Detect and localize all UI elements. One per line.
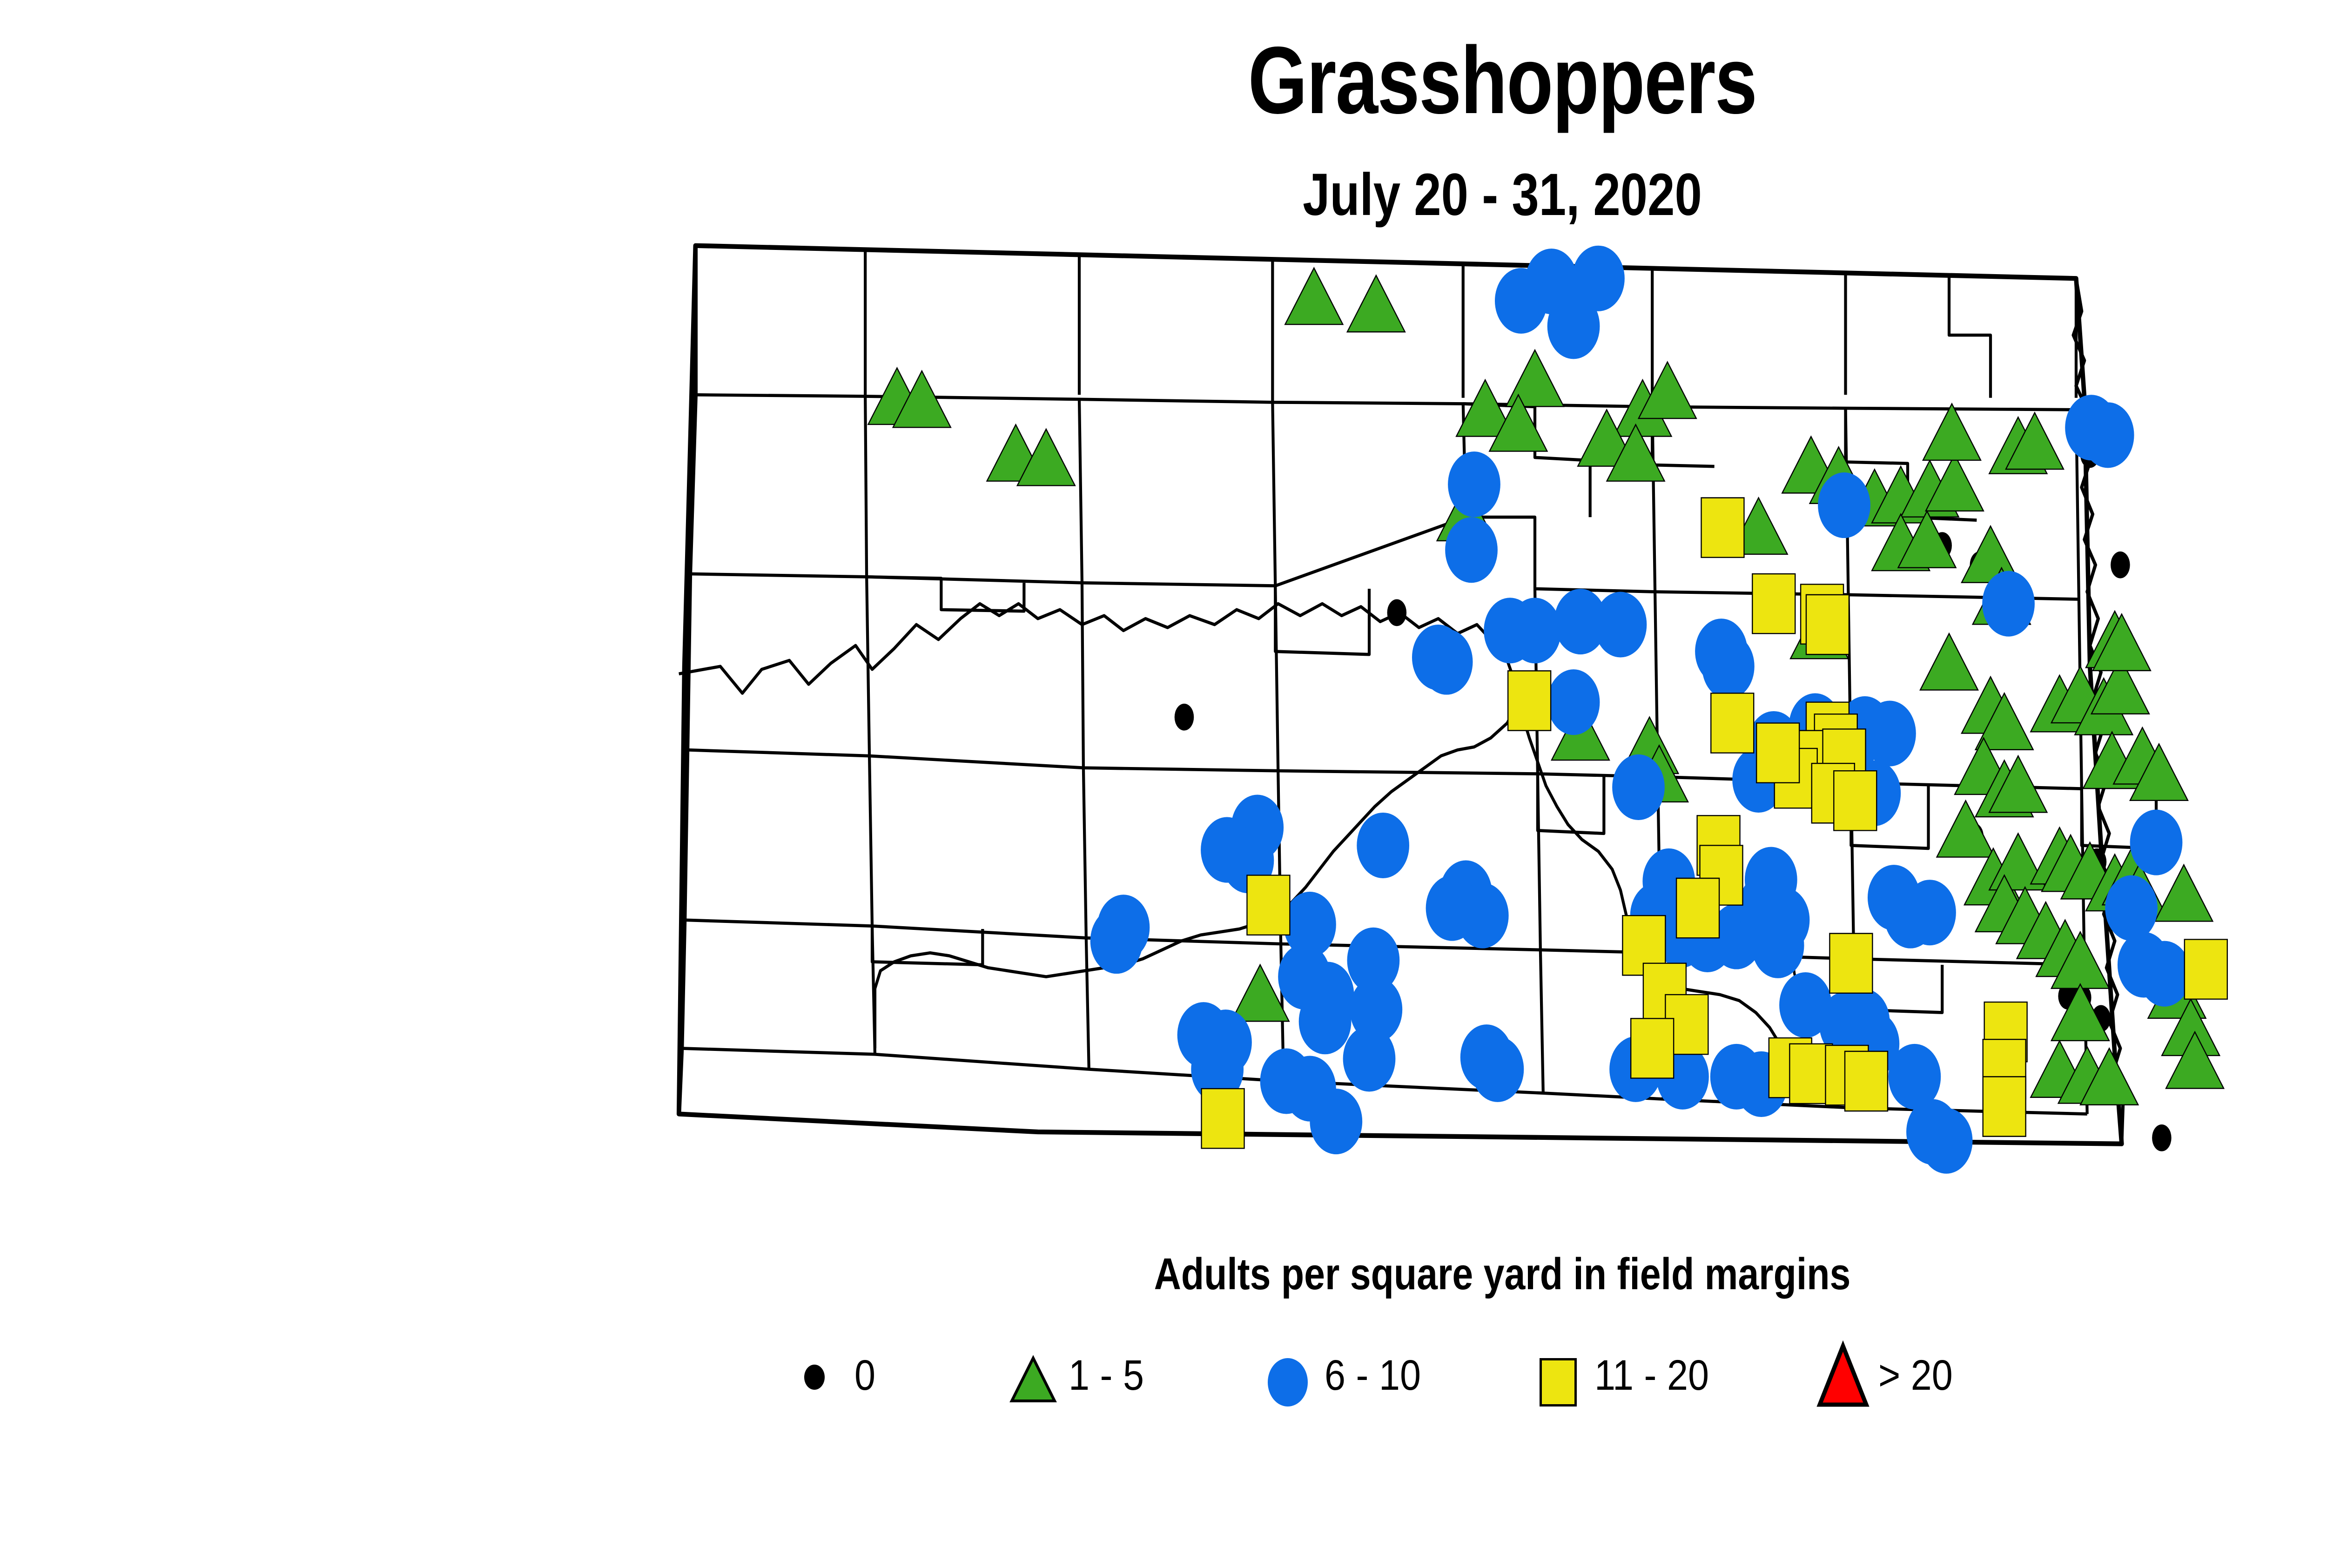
map-symbol [1508,671,1551,730]
map-symbol [1090,908,1143,974]
map-symbol [1387,599,1407,626]
map-symbol [1752,913,1804,978]
legend-item-6-10[interactable]: 6 - 10 [1257,1336,1434,1415]
map-symbol [1547,293,1600,359]
map-symbol [1448,451,1500,517]
north-dakota-map[interactable] [624,219,2280,1233]
map-symbol [1631,1018,1674,1078]
map-symbol [1343,1026,1396,1091]
map-symbol [1547,669,1600,735]
map-symbol [2105,875,2158,941]
map-symbol [1202,1089,1244,1148]
map-symbol [1752,574,1795,633]
legend-item-11-20[interactable]: 11 - 20 [1527,1336,1725,1415]
map-symbol [1426,875,1479,941]
page-subtitle: July 20 - 31, 2020 [270,165,2327,225]
map-symbol [1310,1089,1362,1154]
map-symbol [2130,810,2183,875]
map-symbol [1357,813,1409,878]
map-symbol [1923,404,1981,460]
map-symbol [1472,1036,1524,1102]
map-symbol [1701,498,1744,558]
map-symbol [2138,941,2191,1007]
legend-label-1-5: 1 - 5 [1069,1354,1144,1397]
map-symbol [1834,771,1876,830]
page-title: Grasshoppers [301,33,2327,128]
map-symbol [1612,754,1665,820]
map-symbol [1594,592,1647,657]
map-symbol [1420,629,1473,695]
map-symbol [1299,989,1352,1054]
map-symbol [2111,552,2130,579]
map-symbol [1175,704,1194,731]
map-symbol [1702,633,1755,699]
map-symbol [1285,268,1343,324]
green-triangle-icon [1001,1336,1066,1415]
legend-label-11-20: 11 - 20 [1594,1354,1709,1397]
yellow-square-icon [1527,1336,1592,1415]
map-symbol [2082,402,2134,468]
legend-label-6-10: 6 - 10 [1325,1354,1421,1397]
blue-circle-icon [1257,1336,1322,1415]
page-root: Grasshoppers July 20 - 31, 2020 [0,0,2327,1568]
map-symbol [1903,880,1956,945]
map-symbol [1676,878,1719,938]
map-symbol [1920,633,1978,690]
legend-item-over-20[interactable]: > 20 [1810,1336,1963,1415]
map-symbol [1818,472,1870,538]
black-dot-icon [787,1336,852,1415]
map-symbol [1711,693,1754,753]
legend-item-0[interactable]: 0 [787,1336,878,1415]
map-symbol [1506,350,1564,406]
map-symbol [1445,517,1498,583]
map-symbol [1806,595,1849,654]
legend-title: Adults per square yard in field margins [240,1252,2327,1297]
map-symbol [1829,934,1872,993]
red-triangle-icon [1810,1336,1876,1415]
map-symbol [1247,875,1290,935]
legend-item-1-5[interactable]: 1 - 5 [1001,1336,1154,1415]
map-symbol [1845,1051,1888,1111]
legend: 0 1 - 5 6 - 10 11 - 20 [787,1336,2322,1415]
map-symbol [1982,571,2035,637]
map-data-symbols [868,246,2227,1174]
map-symbol [1756,723,1799,783]
map-symbol [1347,276,1405,332]
map-symbol [1495,268,1547,334]
legend-label-0: 0 [854,1354,875,1397]
legend-label-over-20: > 20 [1878,1354,1953,1397]
map-svg [624,219,2280,1233]
map-symbol [2152,1124,2172,1151]
map-symbol [1983,1077,2026,1136]
map-symbol [1920,1108,1973,1174]
map-symbol [1509,598,1561,663]
map-symbol [2185,939,2227,999]
